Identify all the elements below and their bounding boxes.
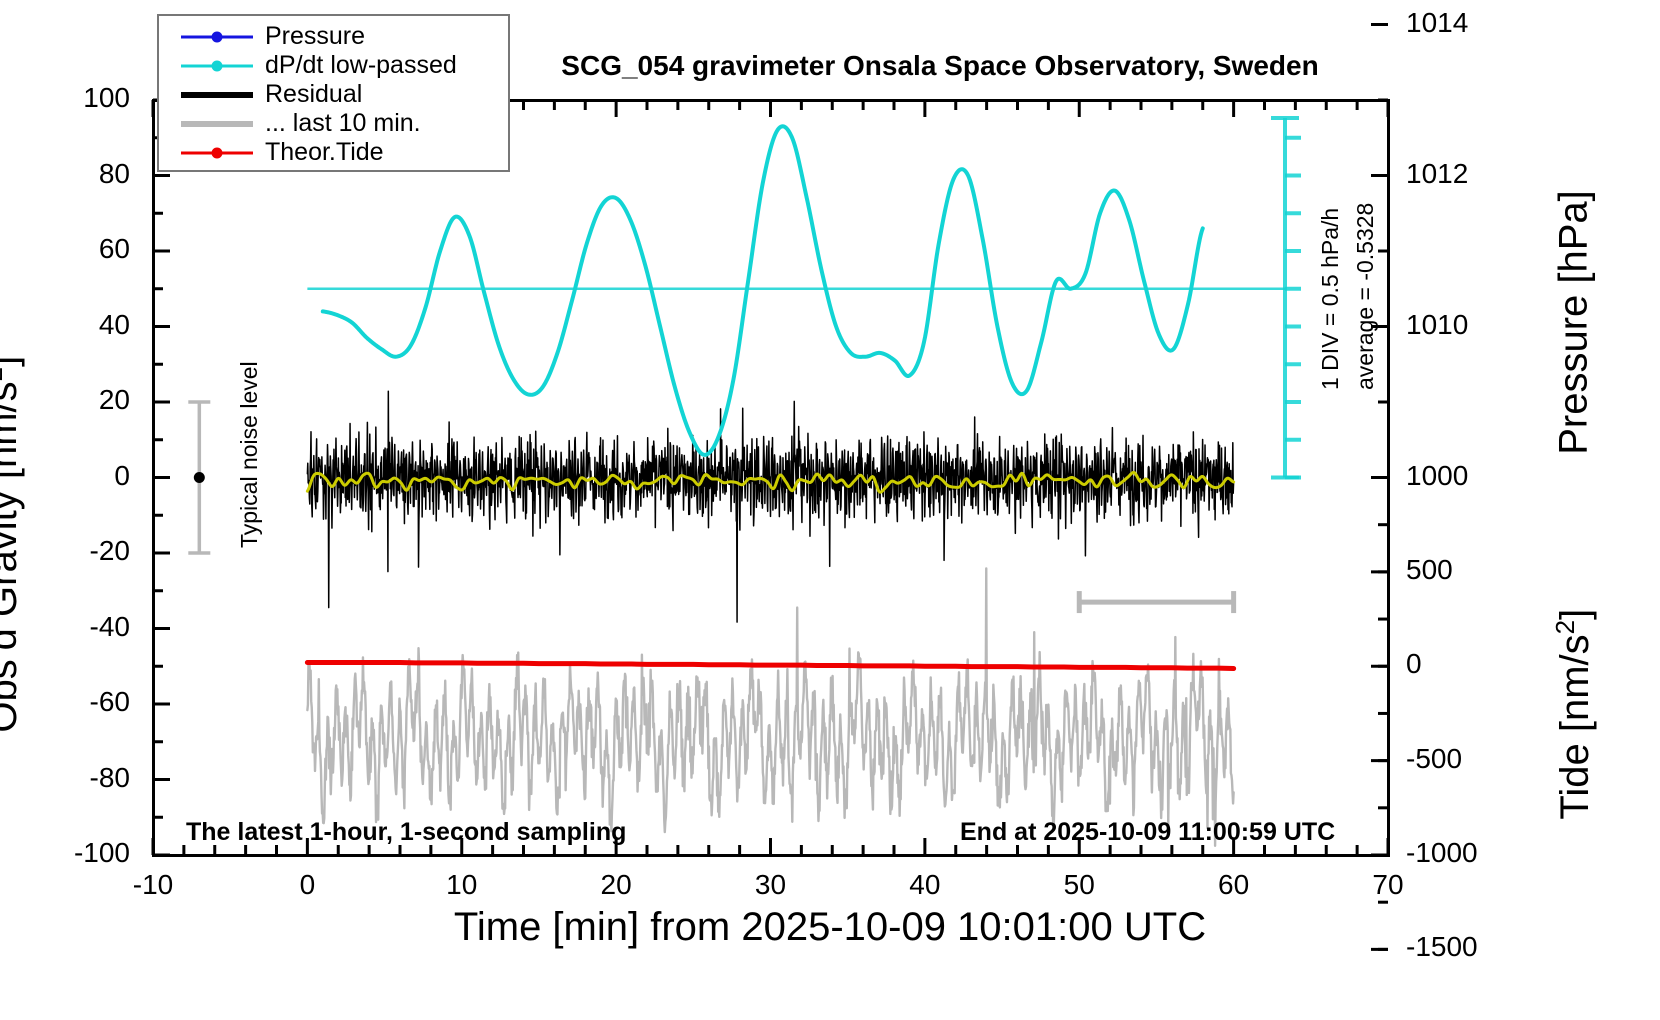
legend-swatch-icon <box>181 85 253 105</box>
tide-tick-0: 0 <box>1406 648 1546 680</box>
y-tick-80: 80 <box>10 158 130 190</box>
y-tick--20: -20 <box>10 535 130 567</box>
x-tick-70: 70 <box>1328 869 1448 901</box>
legend-swatch-icon <box>181 114 253 134</box>
chart-root: Obs’d Gravity [nm/s2] Pressure [hPa] Tid… <box>0 0 1660 1020</box>
y-tick-40: 40 <box>10 309 130 341</box>
x-tick-0: 0 <box>247 869 367 901</box>
legend-label: ... last 10 min. <box>253 111 421 136</box>
y-tick-100: 100 <box>10 82 130 114</box>
pressure-tick-1012: 1012 <box>1406 158 1546 190</box>
legend-label: Theor.Tide <box>253 140 384 165</box>
pressure-tick-1010: 1010 <box>1406 309 1546 341</box>
legend-swatch-icon <box>181 143 253 163</box>
sampling-note: The latest 1-hour, 1-second sampling <box>186 818 626 847</box>
x-tick-10: 10 <box>402 869 522 901</box>
tide-tick-1000: 1000 <box>1406 460 1546 492</box>
y-tick-60: 60 <box>10 233 130 265</box>
tide-tick--1500: -1500 <box>1406 931 1546 963</box>
x-tick-40: 40 <box>865 869 985 901</box>
x-tick-50: 50 <box>1019 869 1139 901</box>
average-label: average = -0.5328 <box>1352 203 1379 390</box>
chart-title: SCG_054 gravimeter Onsala Space Observat… <box>561 50 1318 82</box>
legend-swatch-icon <box>181 27 253 47</box>
tide-tick--1000: -1000 <box>1406 837 1546 869</box>
x-tick-20: 20 <box>556 869 676 901</box>
legend-item-2[interactable]: Residual <box>159 80 508 109</box>
legend-item-0[interactable]: Pressure <box>159 22 508 51</box>
x-tick-60: 60 <box>1174 869 1294 901</box>
y-axis-label-right-pressure: Pressure [hPa] <box>1552 190 1597 455</box>
legend-item-1[interactable]: dP/dt low-passed <box>159 51 508 80</box>
y-tick-0: 0 <box>10 460 130 492</box>
div-scale-label: 1 DIV = 0.5 hPa/h <box>1317 208 1344 390</box>
tide-tick-500: 500 <box>1406 554 1546 586</box>
y-axis-label-right-tide: Tide [nm/s2] <box>1550 609 1598 820</box>
y-tick--80: -80 <box>10 762 130 794</box>
x-axis-label: Time [min] from 2025-10-09 10:01:00 UTC <box>454 905 1206 950</box>
legend-label: Pressure <box>253 24 365 49</box>
legend[interactable]: PressuredP/dt low-passedResidual... last… <box>157 14 510 172</box>
plot-frame <box>152 99 1390 857</box>
noise-level-label: Typical noise level <box>236 361 263 548</box>
x-tick--10: -10 <box>93 869 213 901</box>
y-tick--40: -40 <box>10 611 130 643</box>
x-tick-30: 30 <box>711 869 831 901</box>
tide-tick--500: -500 <box>1406 743 1546 775</box>
end-time-note: End at 2025-10-09 11:00:59 UTC <box>960 818 1335 847</box>
y-tick--60: -60 <box>10 686 130 718</box>
pressure-tick-1014: 1014 <box>1406 7 1546 39</box>
y-tick--100: -100 <box>10 837 130 869</box>
legend-label: dP/dt low-passed <box>253 53 457 78</box>
y-tick-20: 20 <box>10 384 130 416</box>
legend-item-3[interactable]: ... last 10 min. <box>159 109 508 138</box>
legend-item-4[interactable]: Theor.Tide <box>159 138 508 167</box>
legend-label: Residual <box>253 82 362 107</box>
legend-swatch-icon <box>181 56 253 76</box>
